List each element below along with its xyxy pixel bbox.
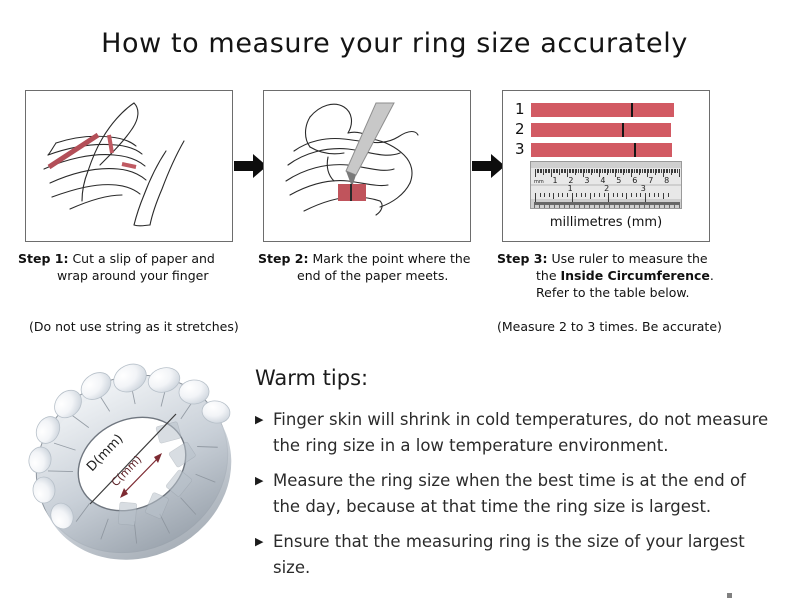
ruler-tick (590, 193, 591, 199)
ruler-tick (558, 193, 559, 197)
note-step-3: (Measure 2 to 3 times. Be accurate) (497, 318, 722, 335)
ruler-tick (581, 193, 582, 197)
ruler-tick (658, 193, 659, 197)
caption-line: the Inside Circumference. (497, 267, 737, 284)
pen (346, 103, 394, 187)
tip-text: Finger skin will shrink in cold temperat… (273, 407, 775, 459)
caption-line: Step 1: Cut a slip of paper and (18, 250, 258, 267)
ruler-tick (631, 193, 632, 197)
caption-text: Use ruler to measure the (551, 251, 707, 266)
ruler-inch-number: 2 (604, 185, 609, 193)
strip-bar (531, 123, 671, 137)
caption-step-2: Step 2: Mark the point where the end of … (258, 250, 498, 284)
ruler-ticks: 12345678mm123 (531, 162, 681, 208)
step-lead: Step 1: (18, 251, 68, 266)
corner-artifact (727, 593, 732, 598)
ruler-origin-label: mm (534, 178, 544, 186)
ruler-tick (636, 193, 637, 197)
ruler-tick (663, 193, 664, 199)
ruler-cm-number: 7 (648, 177, 653, 185)
tip-text: Ensure that the measuring ring is the si… (273, 529, 775, 581)
caption-line: Step 2: Mark the point where the (258, 250, 498, 267)
ruler-tick (640, 193, 641, 197)
hand-marking-paper-illustration (264, 91, 470, 241)
tip-item: ▶ Ensure that the measuring ring is the … (255, 529, 775, 581)
tip-text: Measure the ring size when the best time… (273, 468, 775, 520)
ruler-cm-number: 6 (632, 177, 637, 185)
caption-line: wrap around your finger (18, 267, 258, 284)
caption-line: Step 3: Use ruler to measure the (497, 250, 737, 267)
ring-diagram: D(mm) C(mm) (18, 352, 246, 577)
ruler-tick (604, 193, 605, 197)
note-step-1: (Do not use string as it stretches) (29, 318, 239, 335)
warm-tips-section: Warm tips: ▶ Finger skin will shrink in … (255, 365, 775, 590)
bullet-icon: ▶ (255, 529, 273, 555)
steps-row: 1 2 3 12345678mm123 millimetres (mm) (0, 90, 789, 250)
hand-with-paper-slip-illustration (26, 91, 232, 241)
paper-strip-marked (338, 184, 366, 201)
ruler: 12345678mm123 (530, 161, 682, 209)
ruler-cm-number: 5 (616, 177, 621, 185)
ruler-tick (549, 193, 550, 197)
ruler-tick (585, 193, 586, 197)
ruler-tick (567, 193, 568, 197)
strip-mark (622, 123, 624, 137)
caption-step-1: Step 1: Cut a slip of paper and wrap aro… (18, 250, 258, 284)
page-title: How to measure your ring size accurately (0, 28, 789, 59)
ruler-tick (599, 193, 600, 197)
caption-text: Cut a slip of paper and (72, 251, 214, 266)
step-captions: Step 1: Cut a slip of paper and wrap aro… (0, 250, 789, 345)
inside-circumference-emphasis: Inside Circumference (561, 268, 710, 283)
ruler-tick (576, 193, 577, 197)
measured-strip-row: 3 (515, 142, 672, 157)
panel-step-3: 1 2 3 12345678mm123 millimetres (mm) (502, 90, 710, 242)
strip-mark (631, 103, 633, 117)
step-lead: Step 3: (497, 251, 547, 266)
ruler-tick (553, 193, 554, 199)
ruler-tick (613, 193, 614, 197)
step-lead: Step 2: (258, 251, 308, 266)
caption-text: the (536, 268, 561, 283)
ruler-tick (594, 193, 595, 197)
ruler-tick (622, 193, 623, 197)
ruler-tick (617, 193, 618, 197)
caption-line: Refer to the table below. (497, 284, 737, 301)
ruler-tick (679, 169, 680, 177)
ruler-inch-number: 3 (641, 185, 646, 193)
strip-bar (531, 103, 674, 117)
panel-step-2 (263, 90, 471, 242)
strip-mark (634, 143, 636, 157)
ruler-tick (649, 193, 650, 197)
tip-item: ▶ Measure the ring size when the best ti… (255, 468, 775, 520)
measured-strip-row: 1 (515, 102, 674, 117)
bullet-icon: ▶ (255, 407, 273, 433)
strip-number: 2 (515, 122, 531, 137)
ruler-cm-number: 1 (552, 177, 557, 185)
ruler-tick (608, 193, 609, 202)
ruler-tick (562, 193, 563, 197)
ruler-tick (544, 193, 545, 197)
caption-text: . (710, 268, 714, 283)
ruler-tick (540, 193, 541, 197)
ruler-tick (626, 193, 627, 199)
strip-number: 3 (515, 142, 531, 157)
ruler-cm-number: 8 (664, 177, 669, 185)
arrow-step2-to-step3-icon (472, 152, 506, 180)
ruler-tick (645, 193, 646, 202)
caption-line: end of the paper meets. (258, 267, 498, 284)
ruler-caption: millimetres (mm) (503, 215, 709, 230)
bullet-icon: ▶ (255, 468, 273, 494)
ruler-inch-number: 1 (568, 185, 573, 193)
ruler-cm-number: 3 (584, 177, 589, 185)
ruler-tick (654, 193, 655, 197)
tip-item: ▶ Finger skin will shrink in cold temper… (255, 407, 775, 459)
panel-step-1 (25, 90, 233, 242)
ruler-tick (535, 193, 536, 202)
strip-number: 1 (515, 102, 531, 117)
warm-tips-heading: Warm tips: (255, 365, 775, 391)
caption-text: Mark the point where the (312, 251, 470, 266)
strip-bar (531, 143, 672, 157)
measured-strip-row: 2 (515, 122, 671, 137)
caption-step-3: Step 3: Use ruler to measure the the Ins… (497, 250, 737, 301)
ruler-tick (572, 193, 573, 202)
ruler-tick (668, 193, 669, 197)
ruler-tick (679, 202, 680, 208)
